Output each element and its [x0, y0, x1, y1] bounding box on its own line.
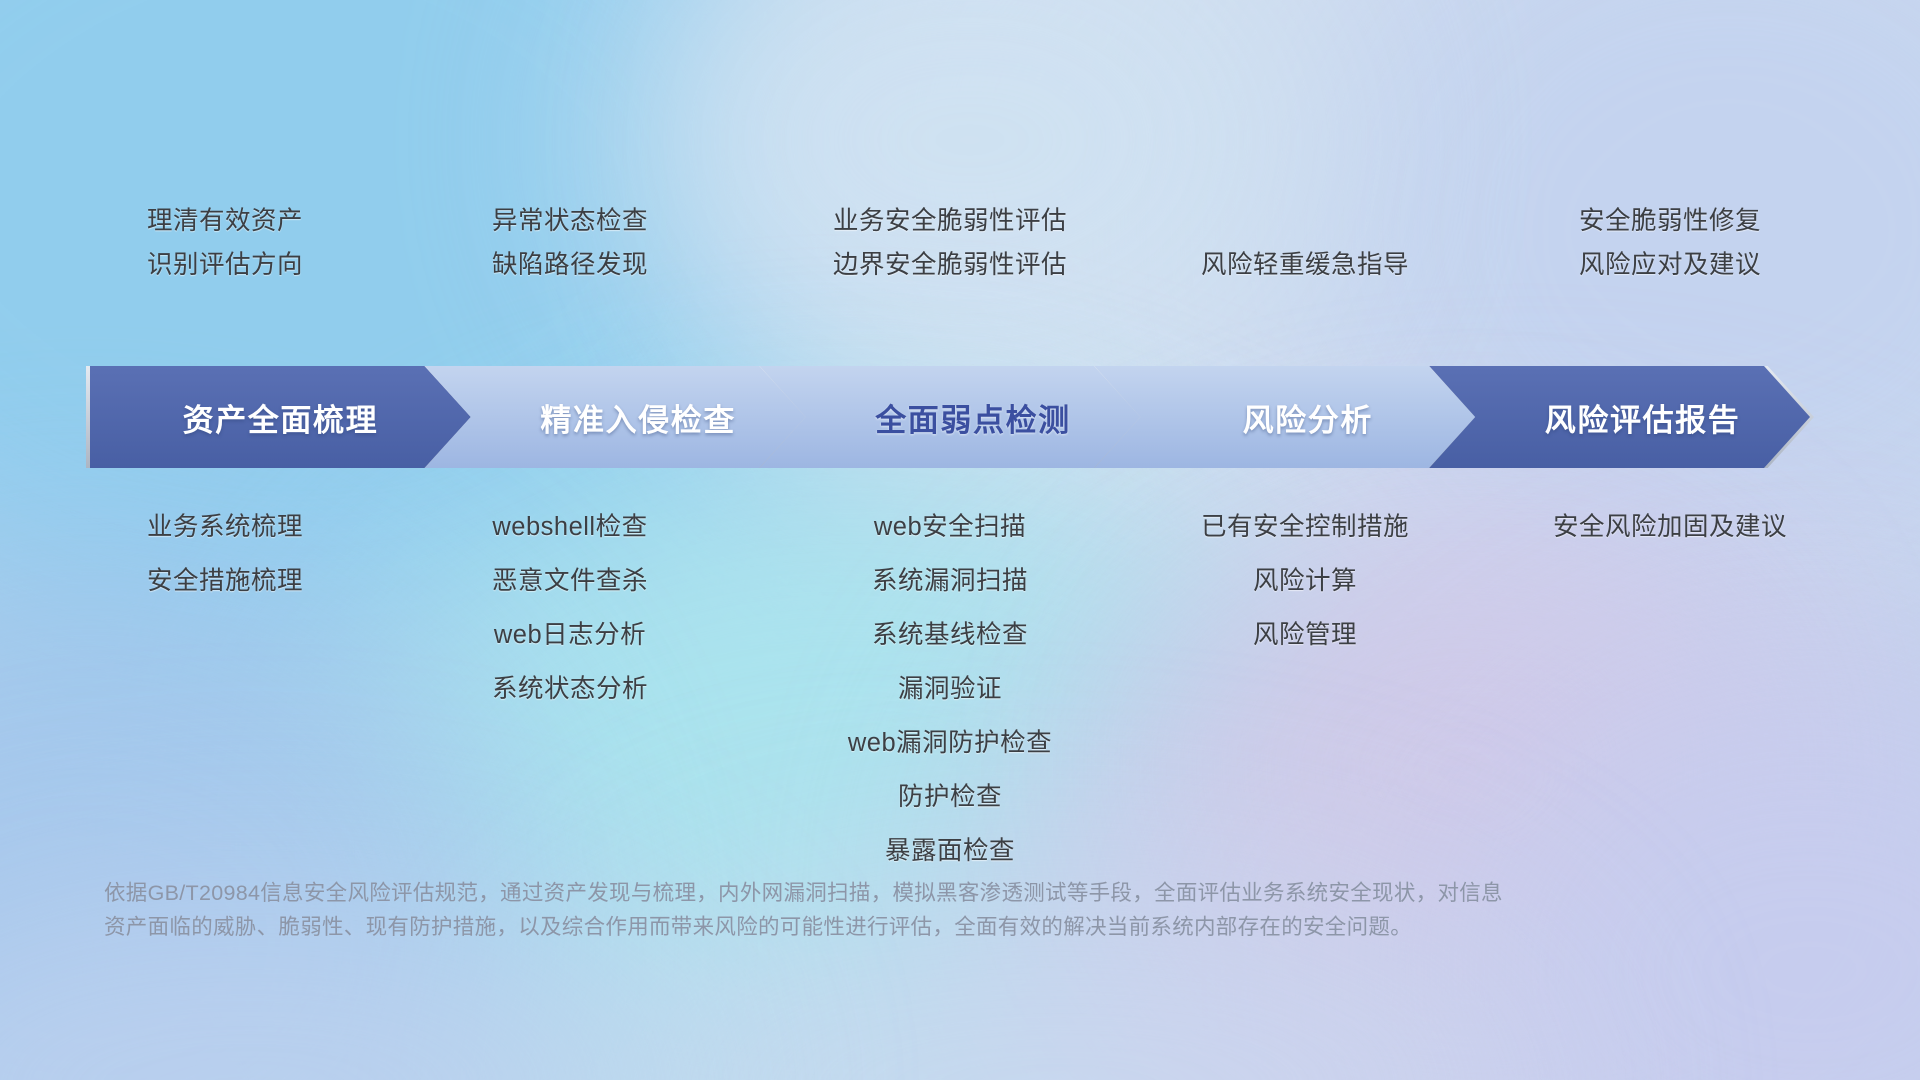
stage-input-item: 理清有效资产: [147, 206, 303, 236]
stage-input-column: 业务安全脆弱性评估边界安全脆弱性评估: [750, 206, 1150, 280]
stage-input-item: 业务安全脆弱性评估: [833, 206, 1067, 236]
stage-output-item: 漏洞验证: [898, 674, 1002, 704]
chevron-1: [90, 366, 471, 468]
chevron-3: [760, 366, 1141, 468]
stage-output-item: 风险管理: [1253, 620, 1357, 650]
chevron-5: [1429, 366, 1810, 468]
stage-output-item: 风险计算: [1253, 566, 1357, 596]
stage-output-item: 系统状态分析: [492, 674, 648, 704]
stage-inputs-row: 理清有效资产识别评估方向异常状态检查缺陷路径发现业务安全脆弱性评估边界安全脆弱性…: [0, 190, 1920, 280]
stage-input-column: 安全脆弱性修复风险应对及建议: [1470, 206, 1870, 280]
process-chevron-band: 资产全面梳理精准入侵检查全面弱点检测风险分析风险评估报告: [0, 366, 1920, 468]
stage-output-item: 业务系统梳理: [147, 512, 303, 542]
footer-description: 依据GB/T20984信息安全风险评估规范，通过资产发现与梳理，内外网漏洞扫描，…: [104, 876, 1724, 944]
stage-output-item: web漏洞防护检查: [848, 728, 1052, 758]
stage-input-item: 风险轻重缓急指导: [1201, 250, 1409, 280]
stage-input-item: 识别评估方向: [147, 250, 303, 280]
stage-output-item: 系统基线检查: [872, 620, 1028, 650]
footer-line-2: 资产面临的威胁、脆弱性、现有防护措施，以及综合作用而带来风险的可能性进行评估，全…: [104, 910, 1724, 944]
stage-input-item: 缺陷路径发现: [492, 250, 648, 280]
stage-input-column: 异常状态检查缺陷路径发现: [405, 206, 735, 280]
stage-output-item: 已有安全控制措施: [1201, 512, 1409, 542]
stage-input-item: 风险应对及建议: [1579, 250, 1761, 280]
stage-output-column: 已有安全控制措施风险计算风险管理: [1140, 512, 1470, 650]
stage-output-item: web安全扫描: [874, 512, 1026, 542]
stage-output-item: 防护检查: [898, 782, 1002, 812]
chevron-2: [425, 366, 806, 468]
footer-line-1: 依据GB/T20984信息安全风险评估规范，通过资产发现与梳理，内外网漏洞扫描，…: [104, 876, 1724, 910]
stage-output-item: 安全措施梳理: [147, 566, 303, 596]
stage-output-column: 安全风险加固及建议: [1470, 512, 1870, 542]
stage-input-item: 异常状态检查: [492, 206, 648, 236]
stage-output-item: webshell检查: [492, 512, 647, 542]
stage-output-item: 安全风险加固及建议: [1553, 512, 1787, 542]
stage-output-item: web日志分析: [494, 620, 646, 650]
stage-input-column: 理清有效资产识别评估方向: [60, 206, 390, 280]
stage-input-item: 边界安全脆弱性评估: [833, 250, 1067, 280]
stage-output-item: 恶意文件查杀: [492, 566, 648, 596]
stage-output-column: 业务系统梳理安全措施梳理: [60, 512, 390, 596]
stage-output-column: web安全扫描系统漏洞扫描系统基线检查漏洞验证web漏洞防护检查防护检查暴露面检…: [750, 512, 1150, 867]
risk-assessment-process-diagram: 理清有效资产识别评估方向异常状态检查缺陷路径发现业务安全脆弱性评估边界安全脆弱性…: [0, 0, 1920, 1080]
chevron-4: [1094, 366, 1475, 468]
stage-output-item: 系统漏洞扫描: [872, 566, 1028, 596]
stage-output-column: webshell检查恶意文件查杀web日志分析系统状态分析: [405, 512, 735, 704]
stage-output-item: 暴露面检查: [885, 836, 1015, 866]
stage-input-item: 安全脆弱性修复: [1579, 206, 1761, 236]
stage-input-column: 风险轻重缓急指导: [1140, 250, 1470, 280]
